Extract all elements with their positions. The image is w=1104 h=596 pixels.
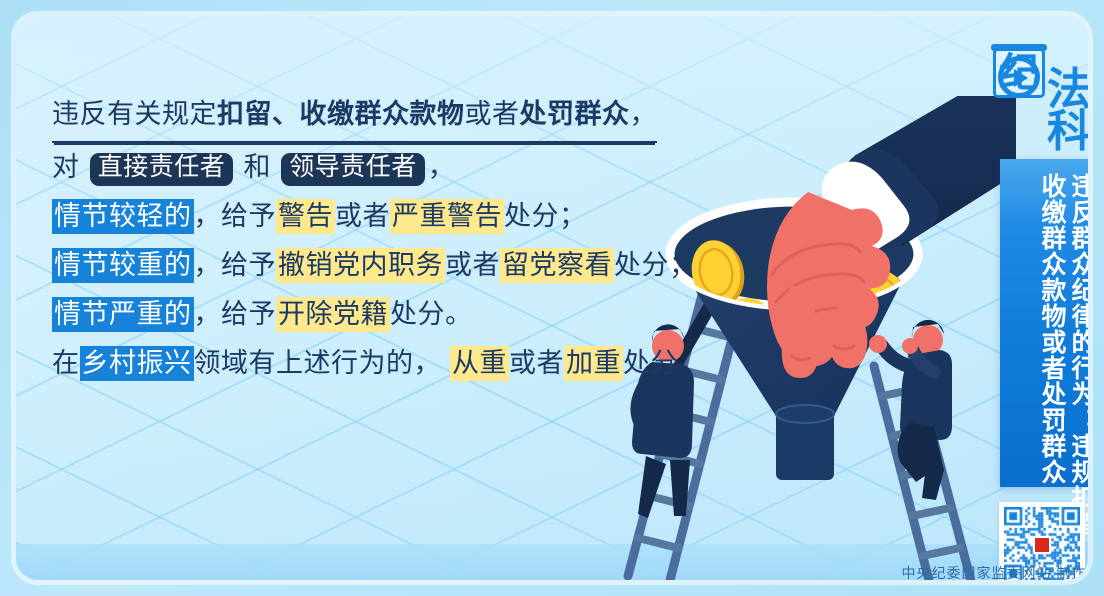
text-line-6: 在乡村振兴领域有上述行为的，从重或者加重处分。 bbox=[52, 339, 692, 388]
qr-center-seal-icon bbox=[1033, 536, 1051, 554]
penalty-probation: 留党察看 bbox=[500, 248, 614, 283]
logo-bai-top-bar bbox=[991, 44, 1047, 51]
banner-column-right: 违反群众纪律的行为：违规扣留、 bbox=[1067, 173, 1088, 477]
line1-seg5: ， bbox=[630, 99, 658, 129]
badge-leadership-responsible: 领导责任者 bbox=[281, 153, 425, 186]
article-text-block: 违反有关规定扣留、收缴群众款物或者处罚群众， 对 直接责任者 和 领导责任者， … bbox=[52, 90, 692, 388]
penalty-remove-party-post: 撤销党内职务 bbox=[276, 248, 445, 283]
line6-prefix: 在 bbox=[52, 348, 80, 378]
line2-prefix: 对 bbox=[52, 152, 80, 182]
penalty-aggravated: 加重 bbox=[564, 346, 623, 381]
ladder-right bbox=[874, 358, 974, 580]
line1-seg1: 违反有关规定 bbox=[52, 99, 217, 129]
logo-char-ke: 科 bbox=[1047, 110, 1088, 154]
text-line-5: 情节严重的，给予开除党籍处分。 bbox=[52, 290, 692, 339]
line6-or: 或者 bbox=[509, 348, 564, 378]
text-line-4: 情节较重的，给予撤销党内职务或者留党察看处分； bbox=[52, 241, 692, 290]
line1-seg3: 或者 bbox=[465, 99, 520, 129]
badge-direct-responsible: 直接责任者 bbox=[90, 153, 234, 186]
coin-in-air bbox=[699, 245, 764, 316]
vertical-title-banner: 违反群众纪律的行为：违规扣留、 收缴群众款物或者处罚群众 bbox=[1000, 159, 1088, 487]
line1-seg2: 扣留、收缴群众款物 bbox=[217, 99, 465, 129]
poster-root: 违反有关规定扣留、收缴群众款物或者处罚群众， 对 直接责任者 和 领导责任者， … bbox=[0, 0, 1104, 596]
line4-mid: ，给予 bbox=[194, 250, 277, 280]
line4-or: 或者 bbox=[445, 250, 500, 280]
penalty-expulsion: 开除党籍 bbox=[276, 297, 390, 332]
poster-card: 违反有关规定扣留、收缴群众款物或者处罚群众， 对 直接责任者 和 领导责任者， … bbox=[16, 16, 1088, 580]
navy-funnel bbox=[670, 202, 918, 480]
large-hand-grabbing-coins bbox=[767, 96, 1016, 378]
text-line-2: 对 直接责任者 和 领导责任者， bbox=[52, 143, 692, 192]
line1-underlined-text: 违反有关规定扣留、收缴群众款物或者处罚群众， bbox=[52, 90, 657, 143]
banner-column-left: 收缴群众款物或者处罚群众 bbox=[1037, 173, 1065, 477]
logo-char-fa: 法 bbox=[1047, 68, 1088, 112]
line2-conjunction: 和 bbox=[244, 152, 272, 182]
line3-suffix: 处分； bbox=[504, 201, 587, 231]
producer-credit: 中央纪委国家监委网站 制作 bbox=[878, 563, 1088, 580]
line5-suffix: 处分。 bbox=[390, 299, 473, 329]
businessman-right bbox=[869, 320, 952, 500]
penalty-warning: 警告 bbox=[276, 199, 335, 234]
line3-mid: ，给予 bbox=[194, 201, 277, 231]
line2-suffix: ， bbox=[428, 152, 456, 182]
penalty-heavier: 从重 bbox=[450, 346, 509, 381]
penalty-serious-warning: 严重警告 bbox=[390, 199, 504, 234]
line5-mid: ，给予 bbox=[194, 299, 277, 329]
poster-frame: 违反有关规定扣留、收缴群众款物或者处罚群众， 对 直接责任者 和 领导责任者， … bbox=[16, 16, 1088, 580]
brand-logo-jifabaike[interactable]: 纪 法 科 bbox=[991, 44, 1088, 156]
condition-serious: 情节较重的 bbox=[52, 248, 194, 283]
line1-seg4: 处罚群众 bbox=[520, 99, 630, 129]
line6-mid: 领域有上述行为的， bbox=[194, 348, 442, 378]
text-line-3: 情节较轻的，给予警告或者严重警告处分； bbox=[52, 192, 692, 241]
condition-minor: 情节较轻的 bbox=[52, 199, 194, 234]
line3-or: 或者 bbox=[335, 201, 390, 231]
gold-coins-in-funnel bbox=[687, 236, 911, 365]
condition-severe: 情节严重的 bbox=[52, 297, 194, 332]
play-triangle-icon bbox=[1014, 69, 1028, 87]
domain-rural-revitalization: 乡村振兴 bbox=[80, 346, 194, 381]
line6-suffix: 处分。 bbox=[623, 348, 706, 378]
text-line-1: 违反有关规定扣留、收缴群众款物或者处罚群众， bbox=[52, 90, 692, 143]
line4-suffix: 处分； bbox=[614, 250, 697, 280]
